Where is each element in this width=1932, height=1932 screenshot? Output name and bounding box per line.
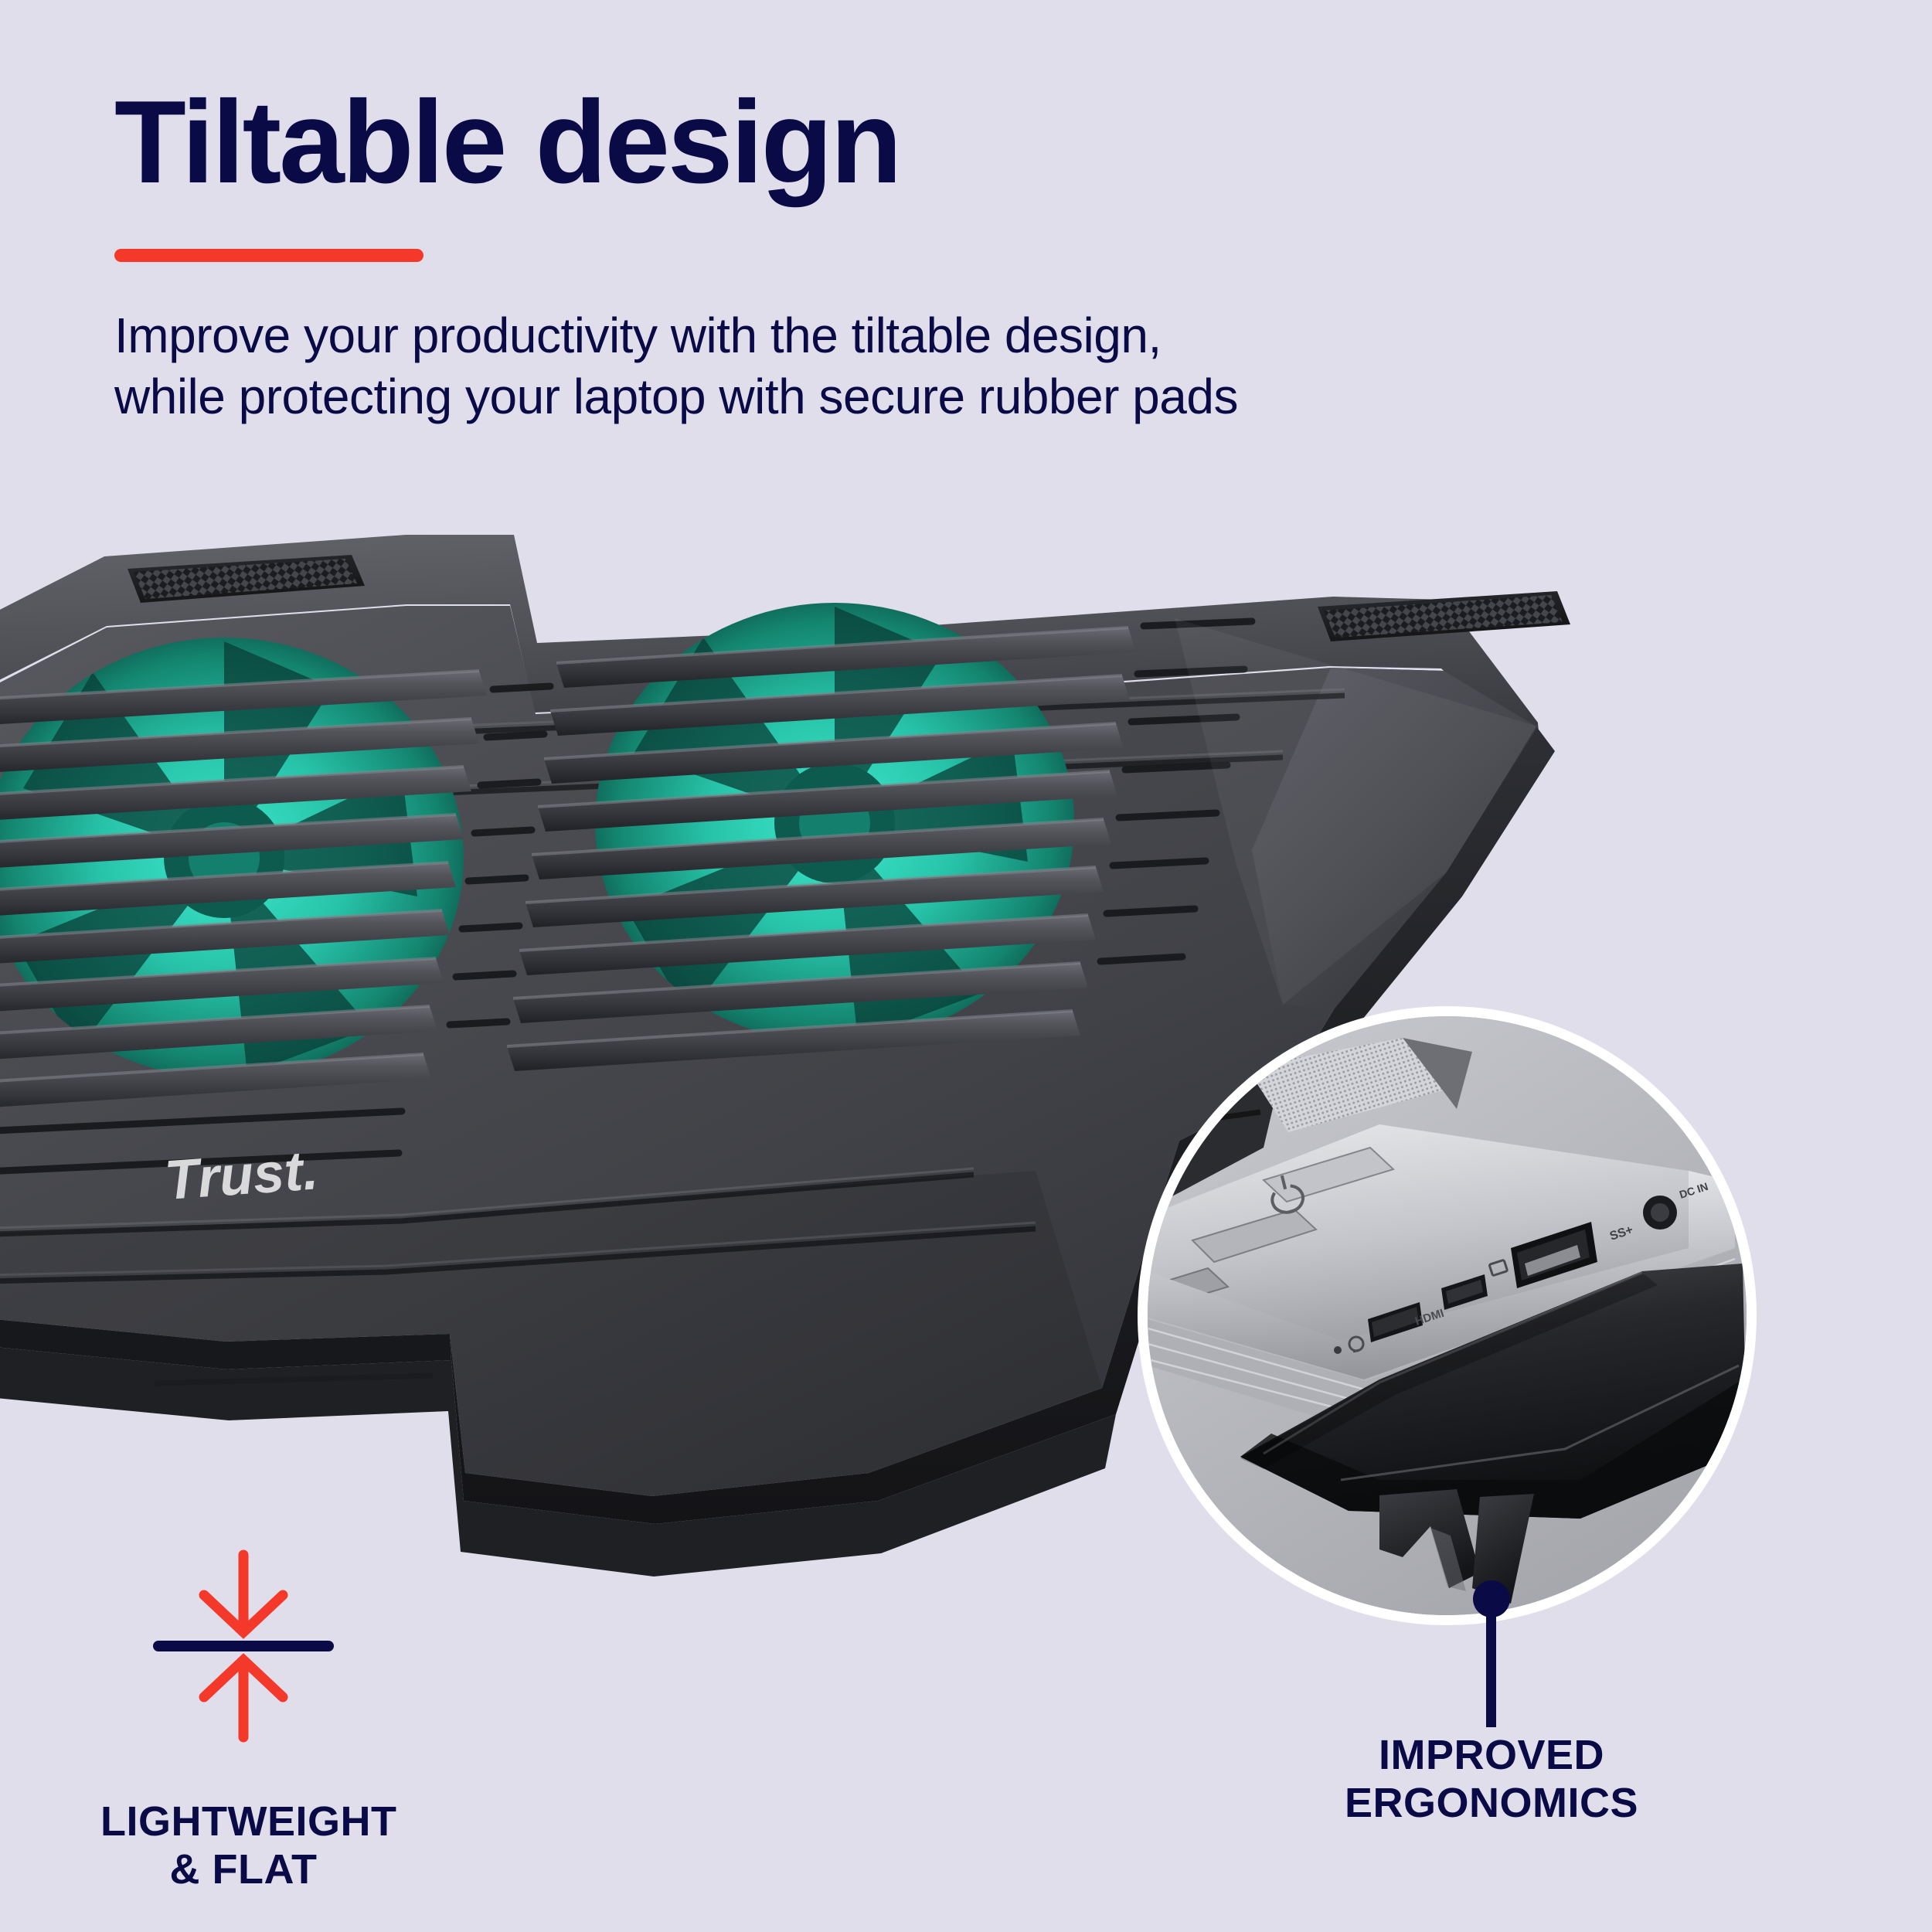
- status-led: [1334, 1346, 1342, 1354]
- page-title: Tiltable design: [114, 83, 1660, 201]
- laptop-ports-closeup: HDMI SS+ DC IN: [1148, 1016, 1747, 1615]
- subtitle-line-1: Improve your productivity with the tilta…: [114, 305, 1660, 366]
- badge-ergonomics-line-2: ERGONOMICS: [1252, 1779, 1731, 1827]
- compress-arrows-icon: [100, 1530, 386, 1762]
- callout-pin-icon: [1453, 1580, 1530, 1727]
- callout-inset-circle: HDMI SS+ DC IN: [1148, 1016, 1747, 1615]
- page-subtitle: Improve your productivity with the tilta…: [114, 305, 1660, 428]
- subtitle-line-2: while protecting your laptop with secure…: [114, 366, 1660, 427]
- title-underline-rule: [114, 249, 423, 262]
- brand-logo-text: Trust.: [163, 1139, 321, 1212]
- arrow-down: [204, 1555, 283, 1632]
- badge-lightweight-line-2: & FLAT: [100, 1846, 386, 1894]
- center-line: [153, 1641, 334, 1651]
- badge-lightweight-label: LIGHTWEIGHT & FLAT: [100, 1798, 386, 1893]
- badge-lightweight-flat: LIGHTWEIGHT & FLAT: [100, 1530, 386, 1893]
- header-block: Tiltable design Improve your productivit…: [114, 83, 1660, 428]
- pin-stem: [1486, 1599, 1496, 1727]
- arrow-up: [204, 1660, 283, 1737]
- badge-improved-ergonomics: IMPROVED ERGONOMICS: [1252, 1731, 1731, 1827]
- brand-logo: Trust.: [163, 1139, 321, 1212]
- badge-ergonomics-label: IMPROVED ERGONOMICS: [1252, 1731, 1731, 1827]
- badge-lightweight-line-1: LIGHTWEIGHT: [100, 1798, 386, 1846]
- marketing-slide: Tiltable design Improve your productivit…: [0, 0, 1932, 1932]
- badge-ergonomics-line-1: IMPROVED: [1252, 1731, 1731, 1779]
